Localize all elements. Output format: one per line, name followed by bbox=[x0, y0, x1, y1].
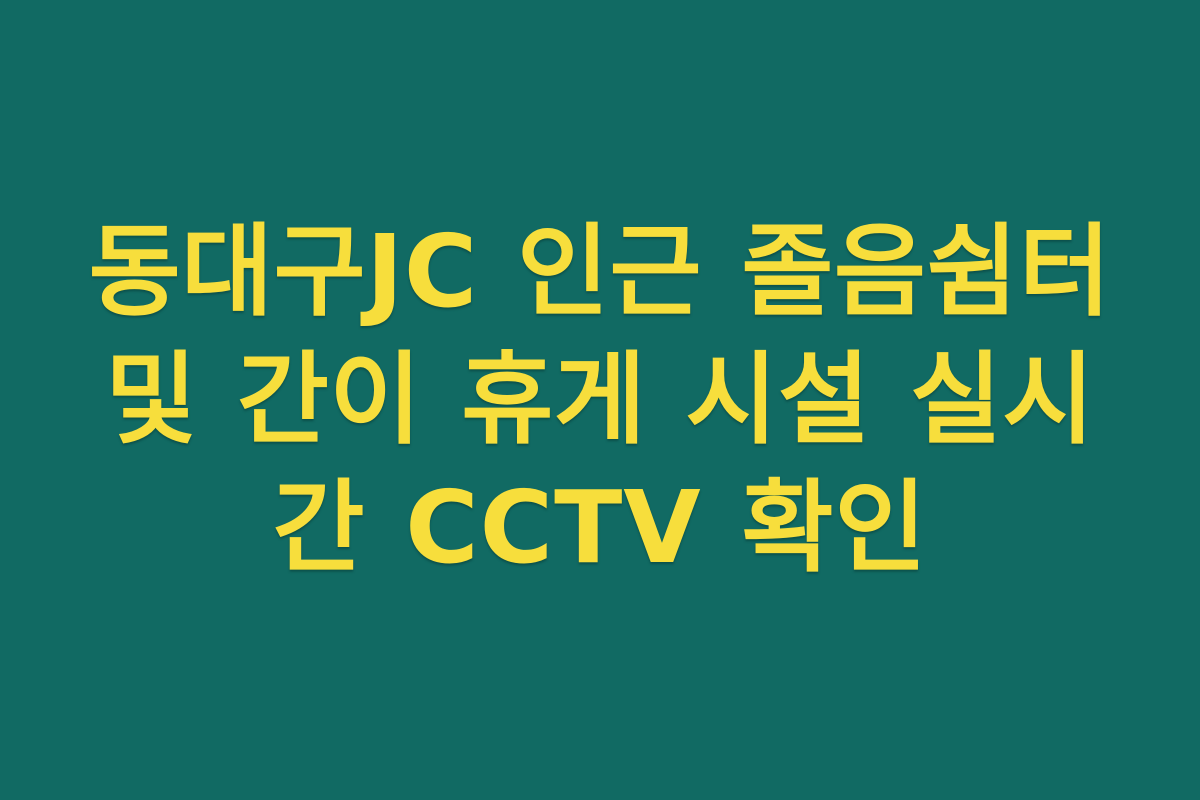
headline-line-1: 동대구JC 인근 졸음쉼터 bbox=[45, 208, 1155, 336]
headline-line-2: 및 간이 휴게 시설 실시 bbox=[45, 336, 1155, 464]
headline-text: 동대구JC 인근 졸음쉼터 및 간이 휴게 시설 실시 간 CCTV 확인 bbox=[45, 208, 1155, 592]
poster-canvas: 동대구JC 인근 졸음쉼터 및 간이 휴게 시설 실시 간 CCTV 확인 bbox=[0, 0, 1200, 800]
headline-line-3: 간 CCTV 확인 bbox=[45, 464, 1155, 592]
